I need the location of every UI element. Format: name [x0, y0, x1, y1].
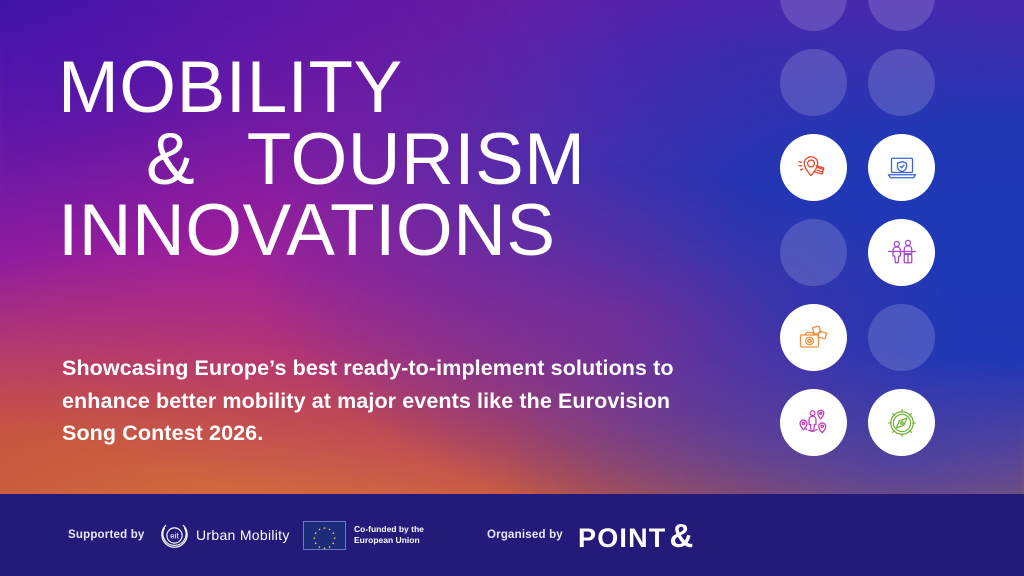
ghost-circle-1 — [780, 0, 847, 31]
organised-by-label: Organised by — [487, 529, 563, 541]
poster-canvas: MOBILITY &TOURISM INNOVATIONS Showcasing… — [0, 0, 1024, 576]
supported-by-label: Supported by — [68, 529, 145, 541]
ghost-circle-6 — [868, 304, 935, 371]
point-logo-ampersand: & — [670, 519, 694, 552]
camera-photos-icon — [796, 320, 832, 356]
footer-bar: Supported by eit Urban Mobility — [0, 494, 1024, 576]
eu-flag-icon — [303, 521, 346, 550]
headline-line-1: MOBILITY — [58, 52, 718, 124]
headline-line-3: INNOVATIONS — [58, 195, 718, 267]
laptop-shield-icon[interactable] — [868, 134, 935, 201]
eit-logo-text: Urban Mobility — [196, 527, 290, 543]
eit-urban-mobility-logo: eit Urban Mobility — [160, 521, 290, 550]
headline-line-2: &TOURISM — [58, 124, 718, 196]
ghost-circle-5 — [780, 219, 847, 286]
camera-photos-icon[interactable] — [780, 304, 847, 371]
eu-funding-line-1: Co-funded by the — [354, 524, 424, 535]
icon-circle-grid — [780, 0, 980, 484]
travelers-luggage-icon — [884, 235, 920, 271]
page-title: MOBILITY &TOURISM INNOVATIONS — [58, 52, 718, 267]
person-map-pins-icon — [796, 405, 832, 441]
eu-funding-line-2: European Union — [354, 535, 424, 546]
eu-funding-text: Co-funded by the European Union — [354, 524, 424, 546]
subtitle-text: Showcasing Europe’s best ready-to-implem… — [62, 352, 702, 450]
location-tickets-icon — [796, 150, 832, 186]
location-tickets-icon[interactable] — [780, 134, 847, 201]
compass-icon — [884, 405, 920, 441]
eu-cofunded-logo: Co-funded by the European Union — [303, 521, 424, 550]
point-logo-word: POINT — [578, 525, 667, 552]
headline-ampersand: & — [146, 119, 195, 200]
headline-tourism: TOURISM — [247, 119, 586, 200]
compass-icon[interactable] — [868, 389, 935, 456]
person-map-pins-icon[interactable] — [780, 389, 847, 456]
eit-circle-icon: eit — [160, 521, 189, 550]
ghost-circle-4 — [868, 49, 935, 116]
point-logo: POINT & — [578, 519, 693, 552]
ghost-circle-2 — [868, 0, 935, 31]
laptop-shield-icon — [884, 150, 920, 186]
svg-text:eit: eit — [170, 530, 179, 540]
travelers-luggage-icon[interactable] — [868, 219, 935, 286]
ghost-circle-3 — [780, 49, 847, 116]
